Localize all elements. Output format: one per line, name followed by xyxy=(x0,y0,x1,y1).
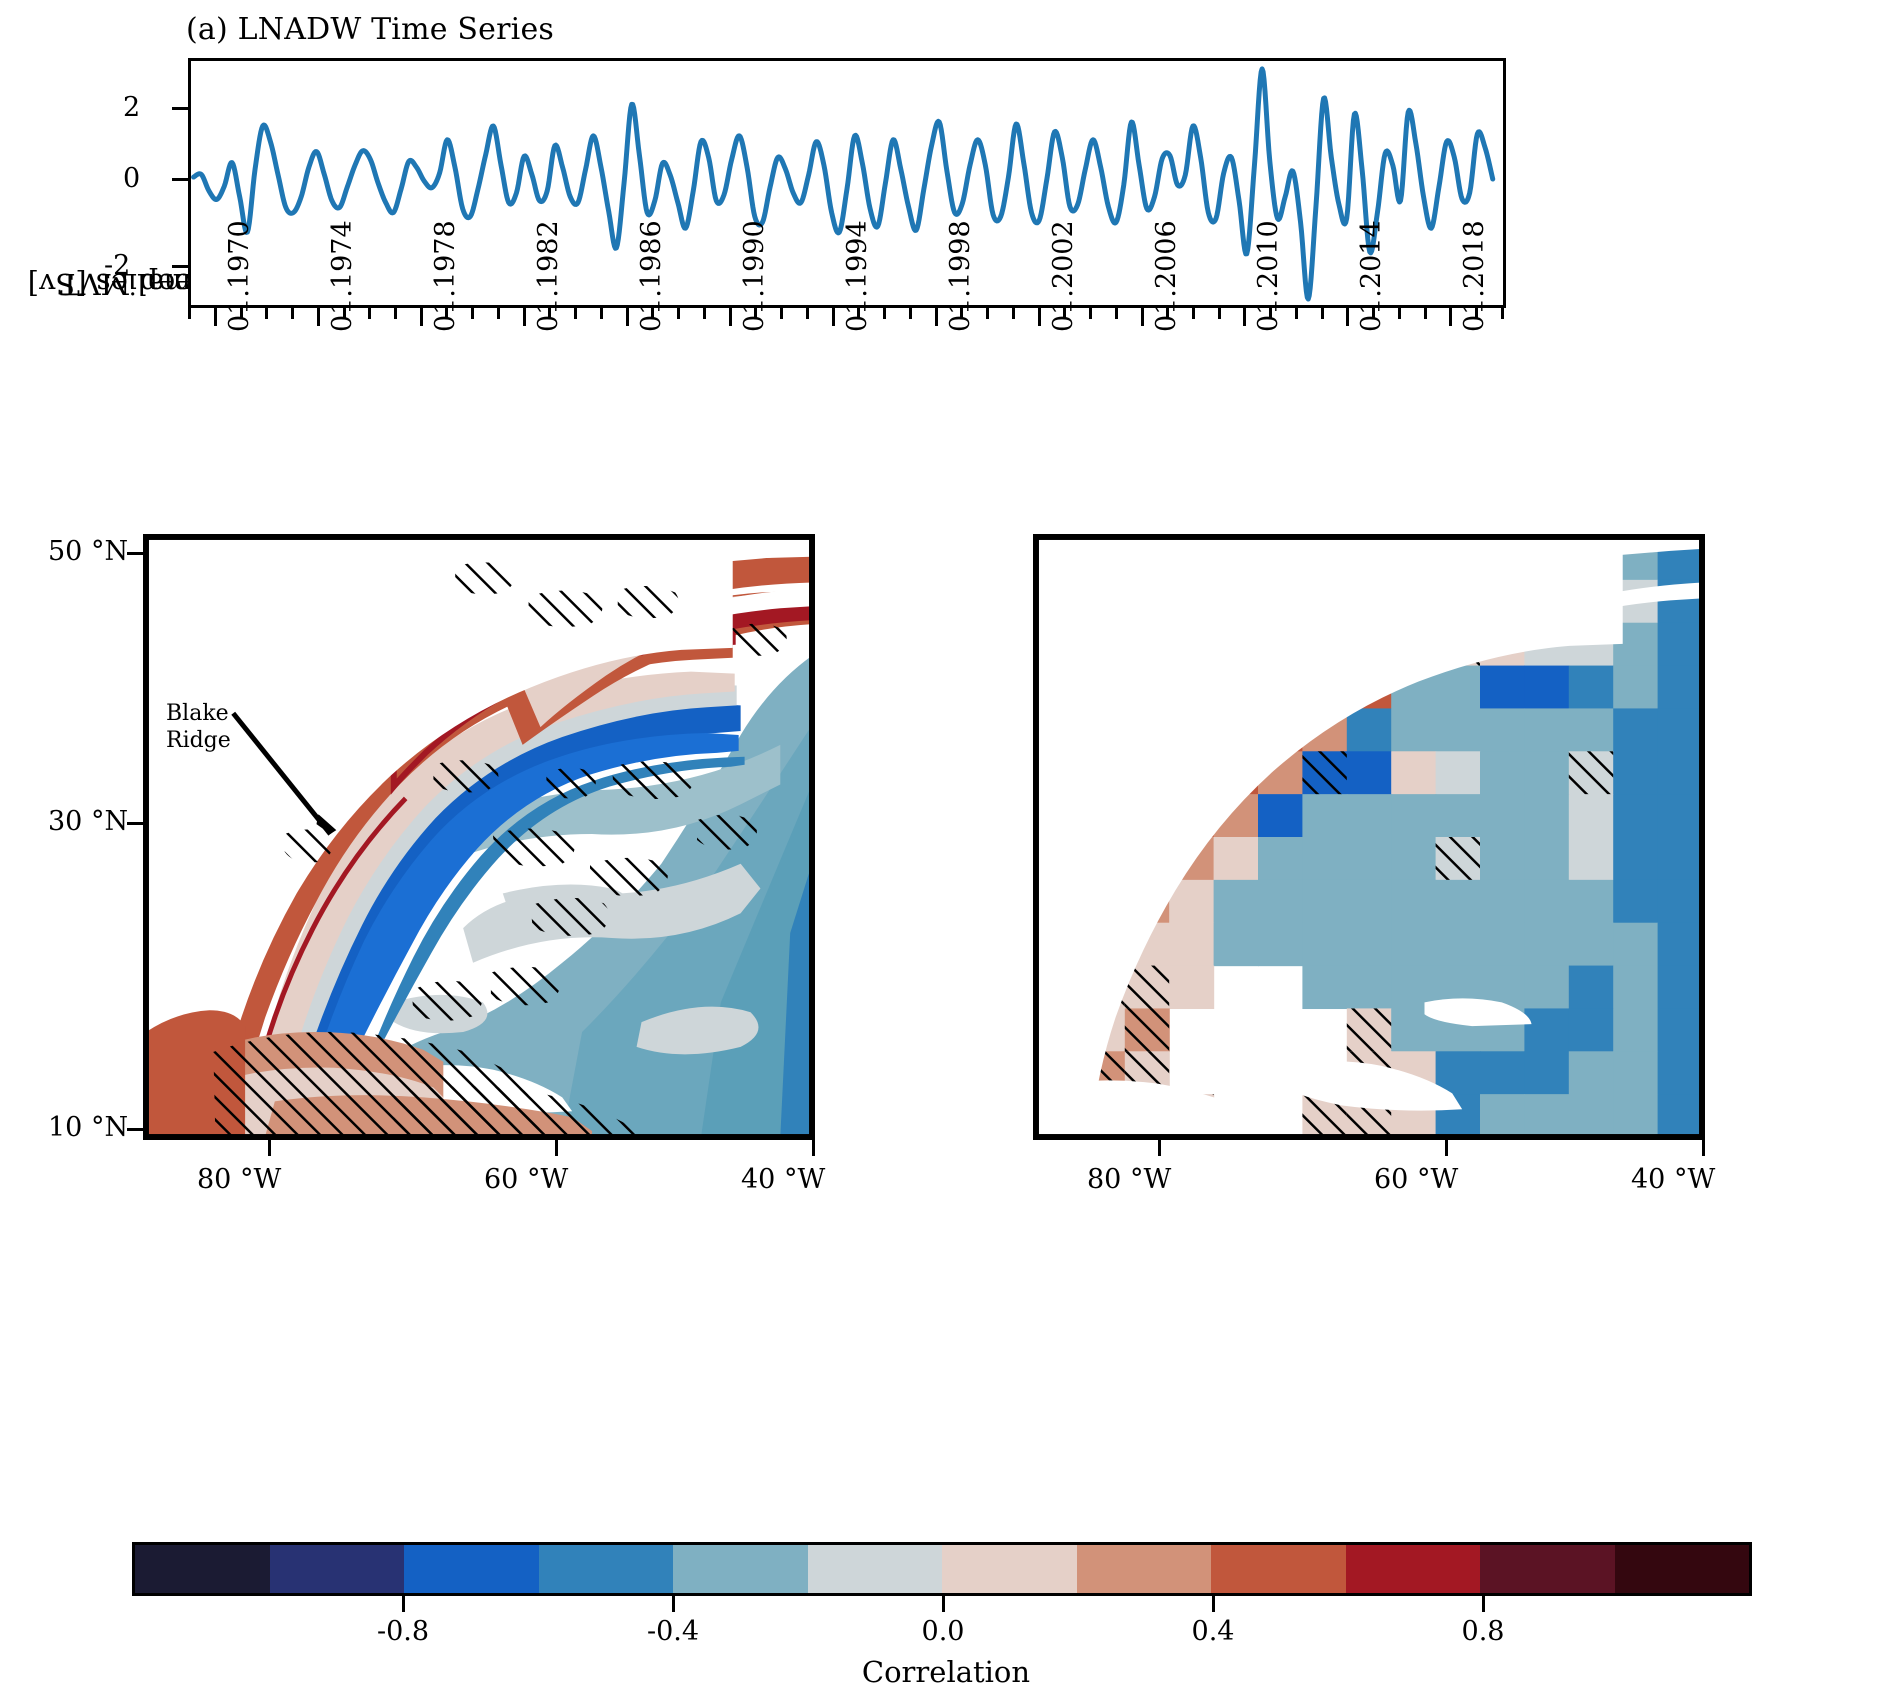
panel-c-cell xyxy=(1658,923,1702,966)
panel-a-xtickmark-minor xyxy=(1192,308,1195,319)
blake-ridge-line2: Ridge xyxy=(166,727,231,754)
panel-a-xtickmark-major xyxy=(1141,308,1144,326)
panel-a-xtickmark-minor xyxy=(1424,308,1427,319)
panel-a-ytick-0: 0 xyxy=(123,163,140,194)
panel-c-cell xyxy=(1347,837,1392,880)
panel-c-xtick-80: 80 °W xyxy=(1087,1164,1171,1195)
figure-root: (a) LNADW Time Series Deep MVT Anomalies… xyxy=(0,0,1892,1697)
panel-a-xtickmark-major xyxy=(420,308,423,326)
panel-c-cell xyxy=(1658,623,1702,666)
colorbar-segment-3 xyxy=(539,1545,674,1593)
colorbar-tickmark xyxy=(402,1596,405,1612)
panel-c-cell xyxy=(1480,666,1525,709)
panel-a-ytickmark-2 xyxy=(172,107,188,110)
panel-a-xtickmark-minor xyxy=(909,308,912,319)
panel-c-xtick-60: 60 °W xyxy=(1374,1164,1458,1195)
panel-a-xtickmark-minor xyxy=(394,308,397,319)
panel-c-cell xyxy=(1658,666,1702,709)
panel-c-cell xyxy=(1524,708,1569,751)
panel-a-xtickmark-minor xyxy=(574,308,577,319)
panel-a-xticklabel: 01.1978 xyxy=(430,220,461,332)
panel-a-xtickmark-minor xyxy=(1295,308,1298,319)
panel-a-xtickmark-major xyxy=(729,308,732,326)
panel-c-hatched-cell xyxy=(1302,751,1346,794)
panel-b-xtick-80: 80 °W xyxy=(197,1164,281,1195)
panel-c-cell xyxy=(1569,794,1614,837)
panel-a-xtickmark-minor xyxy=(1321,308,1324,319)
panel-a-xtickmark-minor xyxy=(986,308,989,319)
colorbar-segment-8 xyxy=(1211,1545,1346,1593)
panel-c-cell xyxy=(1347,751,1392,794)
panel-a-xtickmark-major xyxy=(317,308,320,326)
panel-c-cell xyxy=(1524,1094,1569,1137)
panel-a-xtickmark-minor xyxy=(600,308,603,319)
panel-a-xticklabel: 01.2010 xyxy=(1253,220,1284,332)
panel-c-cell xyxy=(1436,751,1481,794)
panel-c-cell xyxy=(1436,708,1481,751)
panel-c-cell xyxy=(1302,837,1347,880)
panel-a-xtickmark-minor xyxy=(497,308,500,319)
panel-b-xtickmark-40 xyxy=(812,1140,815,1156)
colorbar-segment-5 xyxy=(808,1545,943,1593)
panel-a-xtickmark-minor xyxy=(883,308,886,319)
panel-a-xtickmark-minor xyxy=(471,308,474,319)
panel-c-cell xyxy=(1480,837,1525,880)
panel-a-ytick-m2: -2 xyxy=(104,250,130,281)
panel-a-xticklabel: 01.1994 xyxy=(842,220,873,332)
panel-a-xtickmark-major xyxy=(935,308,938,326)
panel-a-xtickmark-major xyxy=(1243,308,1246,326)
panel-c-cell xyxy=(1613,666,1658,709)
panel-c-cell xyxy=(1658,966,1702,1009)
panel-c-cell xyxy=(1569,923,1614,966)
panel-c-cell xyxy=(1391,751,1436,794)
panel-a-xtickmark-major xyxy=(1038,308,1041,326)
panel-a-xtickmark-minor xyxy=(677,308,680,319)
colorbar-tickmark xyxy=(672,1596,675,1612)
panel-a-xtickmark-minor xyxy=(291,308,294,319)
panel-c-cell xyxy=(1480,1051,1525,1094)
panel-c-cell xyxy=(1569,966,1614,1009)
panel-c-cell xyxy=(1302,966,1347,1009)
panel-a-xtickmark-minor xyxy=(780,308,783,319)
colorbar-segment-6 xyxy=(942,1545,1077,1593)
panel-a-xticklabel: 01.2006 xyxy=(1151,220,1182,332)
panel-c-cell xyxy=(1524,923,1569,966)
panel-c-cell xyxy=(1613,1008,1658,1051)
panel-c-cell xyxy=(1658,708,1702,751)
panel-c-cell xyxy=(1524,666,1569,709)
panel-c-cell xyxy=(1391,708,1436,751)
colorbar-ticklabel: 0.0 xyxy=(898,1616,988,1647)
panel-b-svg xyxy=(146,537,812,1137)
panel-a-xtickmark-minor xyxy=(1501,308,1504,319)
panel-a-xtickmark-major xyxy=(214,308,217,326)
panel-c-cell xyxy=(1214,923,1259,966)
panel-c-cell xyxy=(1658,751,1702,794)
panel-a-ytickmark-0 xyxy=(172,178,188,181)
panel-c-cell xyxy=(1569,837,1614,880)
blake-ridge-annotation: Blake Ridge xyxy=(166,700,231,754)
panel-c-cell xyxy=(1613,1051,1658,1094)
panel-a-ytick-2: 2 xyxy=(123,92,140,123)
panel-a-xtickmark-minor xyxy=(1115,308,1118,319)
panel-c-map xyxy=(1033,534,1705,1140)
panel-a-ylabel: Deep MVT Anomalies [Sv] xyxy=(18,62,58,302)
panel-a-xticklabel: 01.1974 xyxy=(327,220,358,332)
panel-c-hatched-cell xyxy=(1125,1008,1169,1051)
panel-c-cell xyxy=(1214,837,1259,880)
panel-c-cell xyxy=(1613,966,1658,1009)
panel-a-xticklabel: 01.2014 xyxy=(1356,220,1387,332)
panel-c-cell xyxy=(1524,1008,1569,1051)
colorbar-segment-9 xyxy=(1346,1545,1481,1593)
panel-a-xticklabel: 01.1990 xyxy=(739,220,770,332)
panel-c-cell xyxy=(1436,794,1481,837)
panel-c-cell xyxy=(1613,708,1658,751)
colorbar-tickmark xyxy=(942,1596,945,1612)
panel-a-xtickmark-minor xyxy=(1012,308,1015,319)
panel-c-cell xyxy=(1480,880,1525,923)
panel-c-xtickmark-80 xyxy=(1158,1140,1161,1156)
panel-a-xtickmark-major xyxy=(832,308,835,326)
panel-c-cell xyxy=(1480,1094,1525,1137)
panel-c-xtickmark-40 xyxy=(1702,1140,1705,1156)
panel-c-cell xyxy=(1302,880,1347,923)
panel-b-ytick-10: 10 °N xyxy=(48,1112,128,1143)
panel-c-cell xyxy=(1480,751,1525,794)
panel-b-xtick-60: 60 °W xyxy=(484,1164,568,1195)
colorbar-segment-0 xyxy=(135,1545,270,1593)
panel-c-cell xyxy=(1258,794,1303,837)
panel-c-hatched-cell xyxy=(1436,837,1480,880)
colorbar-ticklabel: 0.8 xyxy=(1438,1616,1528,1647)
panel-c-hatched-cell xyxy=(1569,751,1613,794)
colorbar-tickmark xyxy=(1212,1596,1215,1612)
panel-a-xticklabel: 01.2018 xyxy=(1459,220,1490,332)
panel-c-cell xyxy=(1569,880,1614,923)
panel-c-cell xyxy=(1214,880,1259,923)
panel-b-field xyxy=(146,537,812,1137)
colorbar-segment-7 xyxy=(1077,1545,1212,1593)
panel-c-cell xyxy=(1258,923,1303,966)
panel-a-xticklabel: 01.1970 xyxy=(224,220,255,332)
panel-c-cell xyxy=(1480,923,1525,966)
panel-a-xticklabel: 01.1986 xyxy=(636,220,667,332)
panel-a-xtickmark-minor xyxy=(1218,308,1221,319)
colorbar-segment-2 xyxy=(404,1545,539,1593)
panel-c-cell xyxy=(1524,1051,1569,1094)
panel-c-cell xyxy=(1347,923,1392,966)
panel-c-svg xyxy=(1036,537,1702,1137)
panel-b-xtick-40: 40 °W xyxy=(741,1164,825,1195)
panel-c-cell xyxy=(1302,794,1347,837)
panel-c-cell xyxy=(1258,837,1303,880)
colorbar-ticklabel: -0.4 xyxy=(628,1616,718,1647)
colorbar-segment-11 xyxy=(1615,1545,1750,1593)
panel-c-cell xyxy=(1658,1094,1702,1137)
panel-b-ytickmark-30 xyxy=(127,822,143,825)
panel-a-xtickmark-minor xyxy=(1398,308,1401,319)
panel-c-cell xyxy=(1391,837,1436,880)
panel-c-cell xyxy=(1569,1008,1614,1051)
panel-b-ytick-30: 30 °N xyxy=(48,806,128,837)
panel-a-ytickmark-m2 xyxy=(172,265,188,268)
panel-c-cell xyxy=(1436,880,1481,923)
panel-c-cell xyxy=(1302,923,1347,966)
panel-c-cell xyxy=(1480,708,1525,751)
panel-a-xticklabel: 01.1998 xyxy=(945,220,976,332)
panel-c-cell xyxy=(1613,923,1658,966)
panel-c-cell xyxy=(1391,880,1436,923)
panel-c-cell xyxy=(1569,708,1614,751)
panel-a-xtickmark-major xyxy=(1346,308,1349,326)
panel-a-xtickmark-minor xyxy=(806,308,809,319)
panel-c-cell xyxy=(1658,794,1702,837)
panel-c-cell xyxy=(1524,794,1569,837)
panel-c-cell xyxy=(1613,880,1658,923)
panel-c-cell xyxy=(1613,1094,1658,1137)
panel-c-cell xyxy=(1658,837,1702,880)
panel-a-xtickmark-minor xyxy=(368,308,371,319)
panel-c-cell xyxy=(1613,794,1658,837)
panel-c-cell xyxy=(1391,794,1436,837)
blake-ridge-line1: Blake xyxy=(166,700,231,727)
panel-c-cell xyxy=(1613,837,1658,880)
panel-c-cell xyxy=(1347,708,1392,751)
colorbar-ticklabel: 0.4 xyxy=(1168,1616,1258,1647)
panel-c-cell xyxy=(1391,923,1436,966)
panel-a-xtickmark-minor xyxy=(265,308,268,319)
panel-a-xtickmark-minor xyxy=(703,308,706,319)
panel-c-xtick-40: 40 °W xyxy=(1631,1164,1715,1195)
panel-c-cell xyxy=(1569,1094,1614,1137)
panel-a-xtickmark-major xyxy=(626,308,629,326)
colorbar-segment-1 xyxy=(270,1545,405,1593)
panel-c-cell xyxy=(1613,751,1658,794)
panel-c-cell xyxy=(1524,966,1569,1009)
panel-a-xtickmark-minor xyxy=(188,308,191,319)
panel-c-grid xyxy=(1036,537,1702,1137)
panel-a-xtickmark-major xyxy=(1449,308,1452,326)
colorbar xyxy=(132,1542,1752,1596)
panel-c-xtickmark-60 xyxy=(1445,1140,1448,1156)
panel-c-cell xyxy=(1347,966,1392,1009)
panel-c-cell xyxy=(1169,923,1214,966)
panel-b-xtickmark-80 xyxy=(268,1140,271,1156)
panel-c-cell xyxy=(1524,751,1569,794)
panel-b-xtickmark-60 xyxy=(555,1140,558,1156)
colorbar-ticklabel: -0.8 xyxy=(358,1616,448,1647)
panel-c-cell xyxy=(1569,666,1614,709)
panel-c-cell xyxy=(1258,880,1303,923)
panel-c-cell xyxy=(1569,1051,1614,1094)
panel-c-cell xyxy=(1524,837,1569,880)
panel-a-xticklabel: 01.2002 xyxy=(1048,220,1079,332)
panel-a-xtickmark-minor xyxy=(1089,308,1092,319)
panel-b-ytickmark-50 xyxy=(127,552,143,555)
panel-c-cell xyxy=(1658,1008,1702,1051)
panel-c-cell xyxy=(1436,923,1481,966)
panel-c-cell xyxy=(1169,966,1214,1009)
panel-c-cell xyxy=(1658,1051,1702,1094)
panel-a-title: (a) LNADW Time Series xyxy=(186,12,554,47)
panel-c-cell xyxy=(1524,880,1569,923)
colorbar-tickmark xyxy=(1482,1596,1485,1612)
colorbar-segment-10 xyxy=(1480,1545,1615,1593)
panel-b-ytick-50: 50 °N xyxy=(48,536,128,567)
panel-b-map xyxy=(143,534,815,1140)
panel-c-hatched-cell xyxy=(1347,1008,1391,1051)
panel-a-xticklabel: 01.1982 xyxy=(533,220,564,332)
panel-c-cell xyxy=(1347,794,1392,837)
panel-c-cell xyxy=(1658,880,1702,923)
panel-b-ytickmark-10 xyxy=(127,1128,143,1131)
colorbar-label: Correlation xyxy=(0,1655,1892,1689)
colorbar-segment-4 xyxy=(673,1545,808,1593)
panel-c-cell xyxy=(1480,794,1525,837)
panel-c-cell xyxy=(1347,880,1392,923)
panel-a-xtickmark-major xyxy=(523,308,526,326)
